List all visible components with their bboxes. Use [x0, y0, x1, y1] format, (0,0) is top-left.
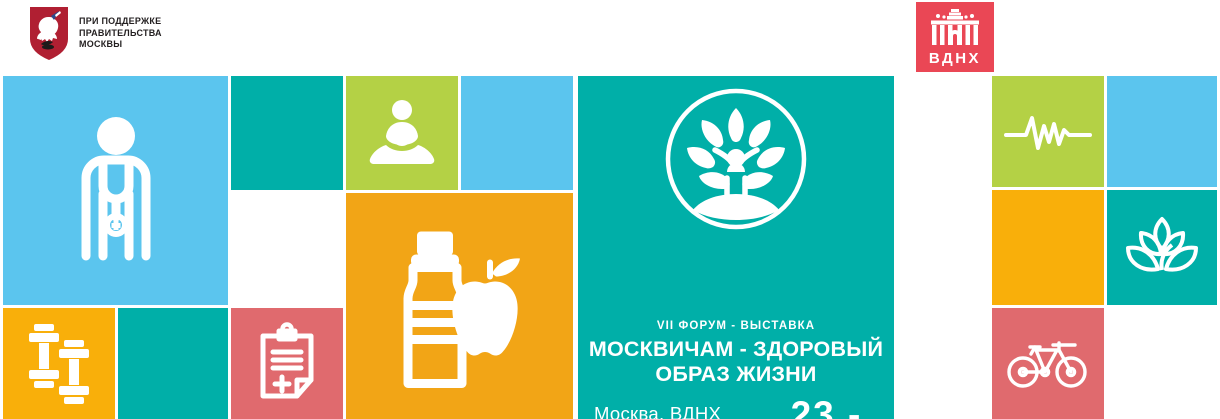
tile-lotus-flower [1107, 190, 1217, 305]
tile-bicycle [992, 308, 1104, 419]
gov-support-line-3: МОСКВЫ [79, 39, 162, 51]
ecg-heartbeat-icon [1004, 104, 1092, 160]
tree-person-emblem [661, 84, 811, 239]
banner-header: ПРИ ПОДДЕРЖКЕ ПРАВИТЕЛЬСТВА МОСКВЫ [0, 0, 1220, 72]
tile-plain-blue-right [1107, 76, 1217, 187]
tile-yoga-meditation [346, 76, 458, 190]
tile-dumbbells [3, 308, 115, 419]
tile-medical-clipboard [231, 308, 343, 419]
date-range: 23 - 25 [764, 396, 889, 419]
tile-plain-teal-left [231, 76, 343, 190]
vdnh-label: ВДНХ [929, 50, 981, 67]
dumbbells-icon [23, 322, 95, 406]
tile-plain-teal-bottom [118, 308, 228, 419]
tile-plain-blue-mid [461, 76, 573, 190]
event-dates: 23 - 25 августа [764, 396, 889, 419]
vdnh-arch-icon [927, 8, 983, 48]
doctor-stethoscope-icon [56, 116, 176, 266]
bicycle-icon [1007, 336, 1089, 392]
tile-plain-orange-right [992, 190, 1104, 305]
tile-heartbeat [992, 76, 1104, 187]
tile-doctor-stethoscope [3, 76, 228, 305]
gov-support-line-2: ПРАВИТЕЛЬСТВА [79, 28, 162, 40]
water-bottle-apple-icon [375, 224, 545, 389]
vdnh-logo: ВДНХ [916, 2, 994, 72]
gov-support-text: ПРИ ПОДДЕРЖКЕ ПРАВИТЕЛЬСТВА МОСКВЫ [79, 16, 162, 51]
event-banner: ПРИ ПОДДЕРЖКЕ ПРАВИТЕЛЬСТВА МОСКВЫ [0, 0, 1220, 419]
headline-line-1: МОСКВИЧАМ - ЗДОРОВЫЙ [578, 337, 894, 362]
event-venue: Москва, ВДНХ Павильон 75 [594, 402, 721, 419]
moscow-coat-of-arms-icon [29, 6, 69, 61]
medical-clipboard-icon [251, 322, 323, 406]
venue-line-1: Москва, ВДНХ [594, 402, 721, 419]
event-kicker: VII ФОРУМ - ВЫСТАВКА [578, 320, 894, 332]
tile-water-bottle-apple [346, 193, 573, 419]
yoga-lotus-pose-icon [364, 97, 440, 169]
event-headline: МОСКВИЧАМ - ЗДОРОВЫЙ ОБРАЗ ЖИЗНИ [578, 337, 894, 388]
moscow-government-support: ПРИ ПОДДЕРЖКЕ ПРАВИТЕЛЬСТВА МОСКВЫ [29, 6, 162, 61]
headline-line-2: ОБРАЗ ЖИЗНИ [578, 362, 894, 387]
event-info-panel: VII ФОРУМ - ВЫСТАВКА МОСКВИЧАМ - ЗДОРОВЫ… [578, 76, 894, 419]
gov-support-line-1: ПРИ ПОДДЕРЖКЕ [79, 16, 162, 28]
lotus-flower-icon [1124, 215, 1200, 281]
